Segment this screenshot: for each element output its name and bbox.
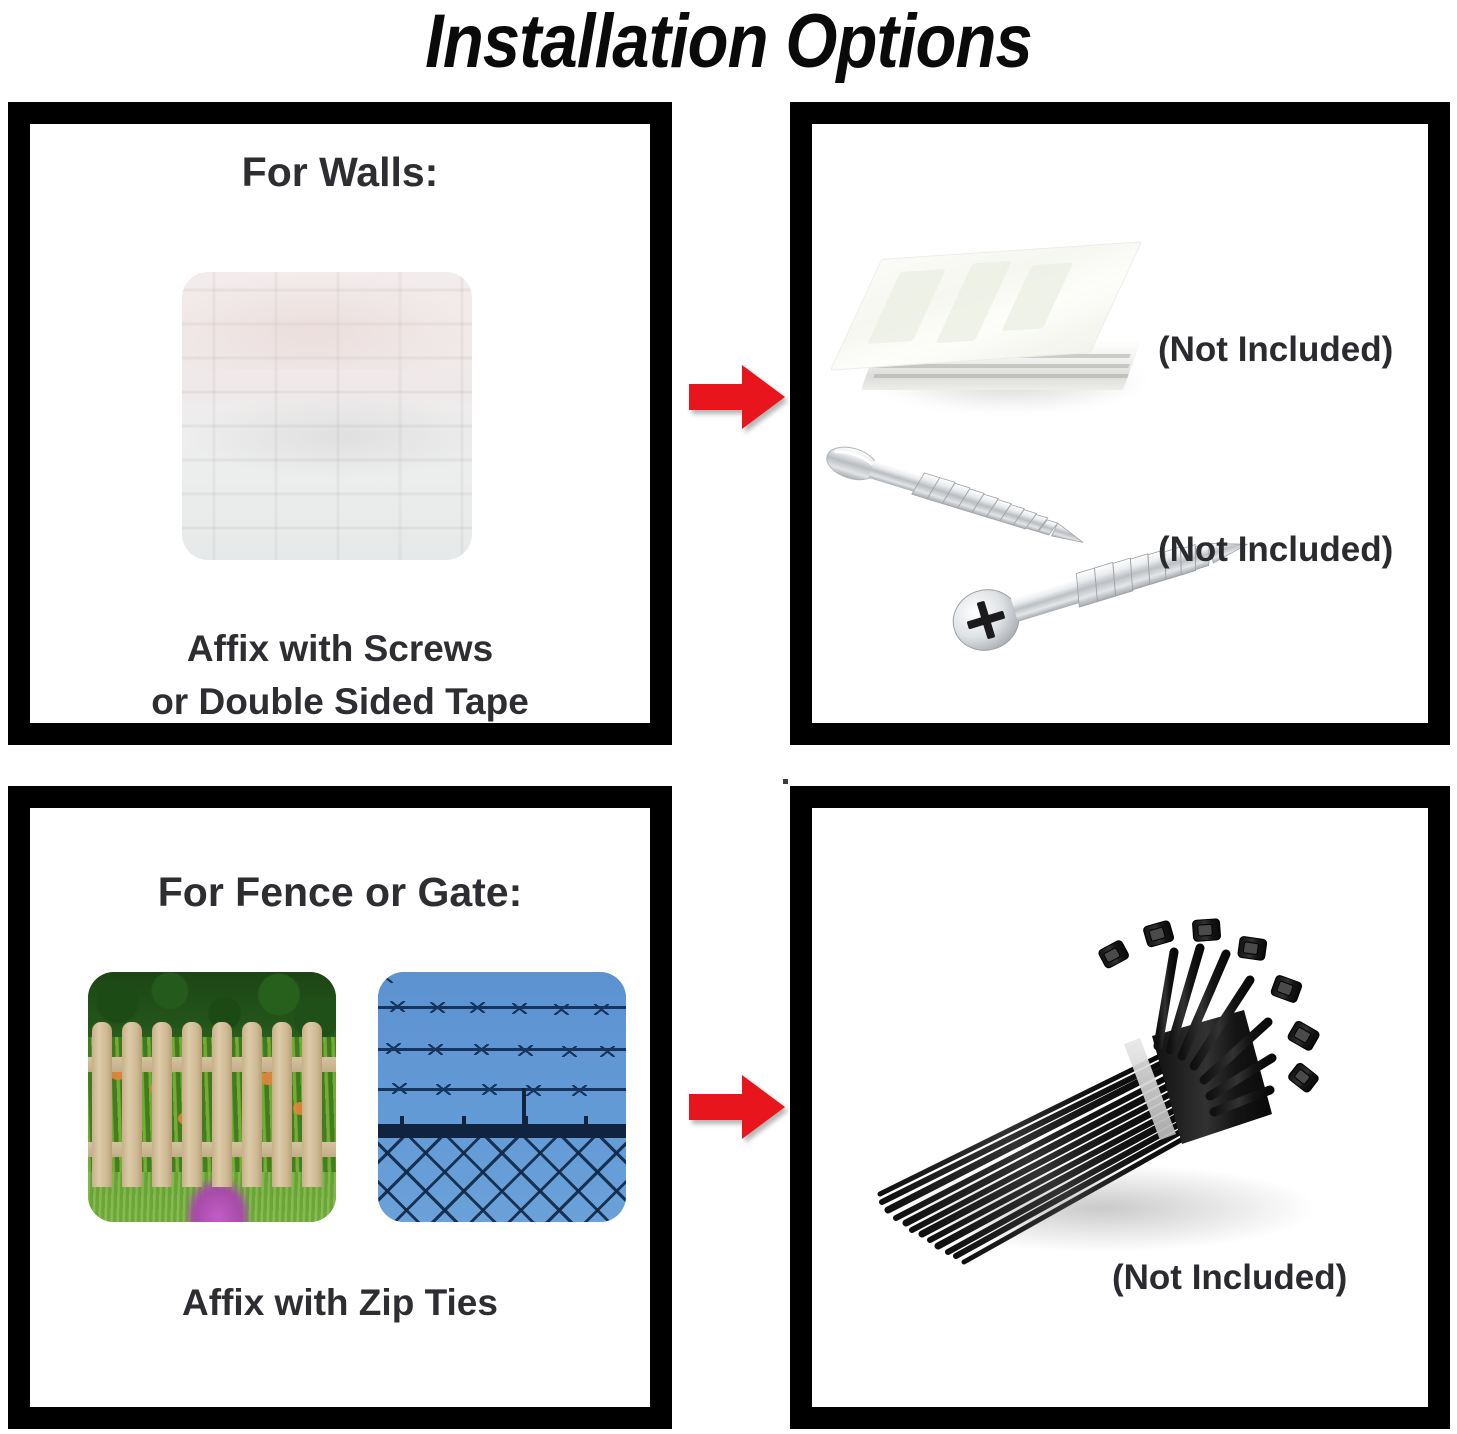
panel-for-fence-inner: For Fence or Gate: (30, 808, 650, 1407)
wire-barb (430, 1002, 445, 1013)
wire-barb (562, 1046, 577, 1057)
panel-zip-tie-inner: (Not Included) (812, 808, 1428, 1407)
wall-texture-highlight (182, 272, 472, 370)
panel-for-walls-inner: For Walls: Affix with Screws or Double S… (30, 124, 650, 723)
wire-barb (378, 972, 393, 983)
red-right-arrow-bottom (687, 1072, 787, 1142)
tape-sheen (1001, 262, 1073, 331)
fence-picket (212, 1022, 232, 1187)
rail-clip (462, 1116, 466, 1128)
barbed-wire-strand (378, 1048, 626, 1051)
wire-barb (392, 1083, 407, 1094)
panel-for-fence-or-gate: For Fence or Gate: (8, 786, 672, 1429)
panel-wall-hardware: (Not Included) (790, 102, 1450, 745)
chain-link-top-rail (378, 1124, 626, 1138)
rail-clip (400, 1116, 404, 1128)
for-walls-caption-line-2: or Double Sided Tape (30, 677, 650, 723)
barbed-wire-strand (378, 1088, 626, 1091)
rail-clip (584, 1116, 588, 1128)
tape-not-included-label: (Not Included) (1158, 330, 1393, 370)
fence-picket (122, 1022, 142, 1187)
tape-sheen (867, 269, 946, 344)
for-walls-caption-line-1: Affix with Screws (30, 624, 650, 674)
double-sided-tape-stack (860, 242, 1160, 427)
wire-barb (572, 1085, 587, 1096)
wire-barb (482, 1084, 497, 1095)
wire-barb (526, 1085, 541, 1096)
chain-link-mesh (378, 1138, 626, 1222)
wire-barb (436, 1084, 451, 1095)
fence-picket (272, 1022, 292, 1187)
red-right-arrow-top (687, 362, 787, 432)
wall-texture-shade (182, 393, 472, 479)
for-fence-caption: Affix with Zip Ties (30, 1278, 650, 1328)
rail-clip (524, 1116, 528, 1128)
wire-barb (470, 1002, 485, 1013)
screws-not-included-label: (Not Included) (1158, 530, 1393, 570)
fence-picket (302, 1022, 322, 1187)
fence-picket (152, 1022, 172, 1187)
image-artifact-speck (783, 779, 788, 784)
tape-sheen (936, 261, 1012, 343)
panel-wall-hardware-inner: (Not Included) (812, 124, 1428, 723)
wire-barb (428, 1044, 443, 1055)
for-walls-heading: For Walls: (30, 148, 650, 196)
wooden-picket-fence-photo (88, 972, 336, 1222)
white-brick-wall-photo (182, 272, 472, 560)
panel-zip-tie-hardware: (Not Included) (790, 786, 1450, 1429)
wire-barb (518, 1045, 533, 1056)
fence-picket (182, 1022, 202, 1187)
wire-barb (512, 1003, 527, 1014)
panel-for-walls: For Walls: Affix with Screws or Double S… (8, 102, 672, 745)
for-fence-heading: For Fence or Gate: (30, 868, 650, 916)
barbed-wire-strand (378, 1006, 626, 1009)
wire-barb (600, 1046, 615, 1057)
tape-layer-line (873, 374, 1128, 378)
wire-barb (390, 1001, 405, 1012)
zip-ties-not-included-label: (Not Included) (1112, 1258, 1347, 1298)
wire-barb (474, 1044, 489, 1055)
wire-barb (594, 1004, 609, 1015)
page-title: Installation Options (87, 0, 1369, 86)
fence-picket (92, 1022, 112, 1187)
chain-link-barbed-wire-fence-photo (378, 972, 626, 1222)
wire-barb (386, 1043, 401, 1054)
fence-picket (242, 1022, 262, 1187)
wire-barb (554, 1004, 569, 1015)
